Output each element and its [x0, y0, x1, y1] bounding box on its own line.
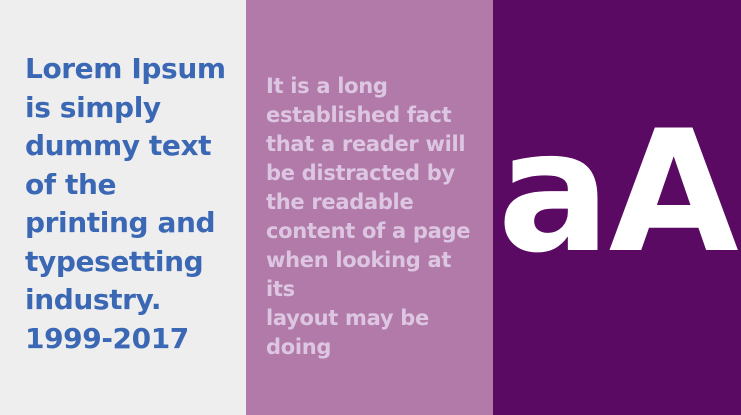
- glyph-panel: aA: [493, 0, 741, 415]
- glyph-pair-aA: aA: [493, 108, 741, 276]
- paragraph-panel: It is a long established fact that a rea…: [246, 0, 493, 415]
- font-specimen-preview: Lorem Ipsum is simply dummy text of the …: [0, 0, 741, 415]
- sample-text-panel: Lorem Ipsum is simply dummy text of the …: [0, 0, 246, 415]
- sample-heading-text: Lorem Ipsum is simply dummy text of the …: [25, 50, 230, 358]
- paragraph-body-text: It is a long established fact that a rea…: [266, 72, 481, 362]
